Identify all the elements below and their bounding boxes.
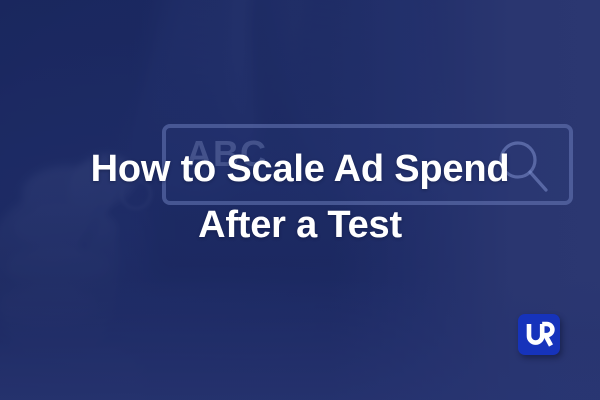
headline-line-2: After a Test [0,197,600,253]
headline-line-1: How to Scale Ad Spend [0,141,600,197]
flat-color-bottom-overlay [0,280,600,400]
logo-ur-mark [518,314,560,355]
brand-logo[interactable] [518,314,560,355]
page-title: How to Scale Ad Spend After a Test [0,141,600,253]
blog-header-card: ABC How to Scale Ad Spend After a Test [0,0,600,400]
